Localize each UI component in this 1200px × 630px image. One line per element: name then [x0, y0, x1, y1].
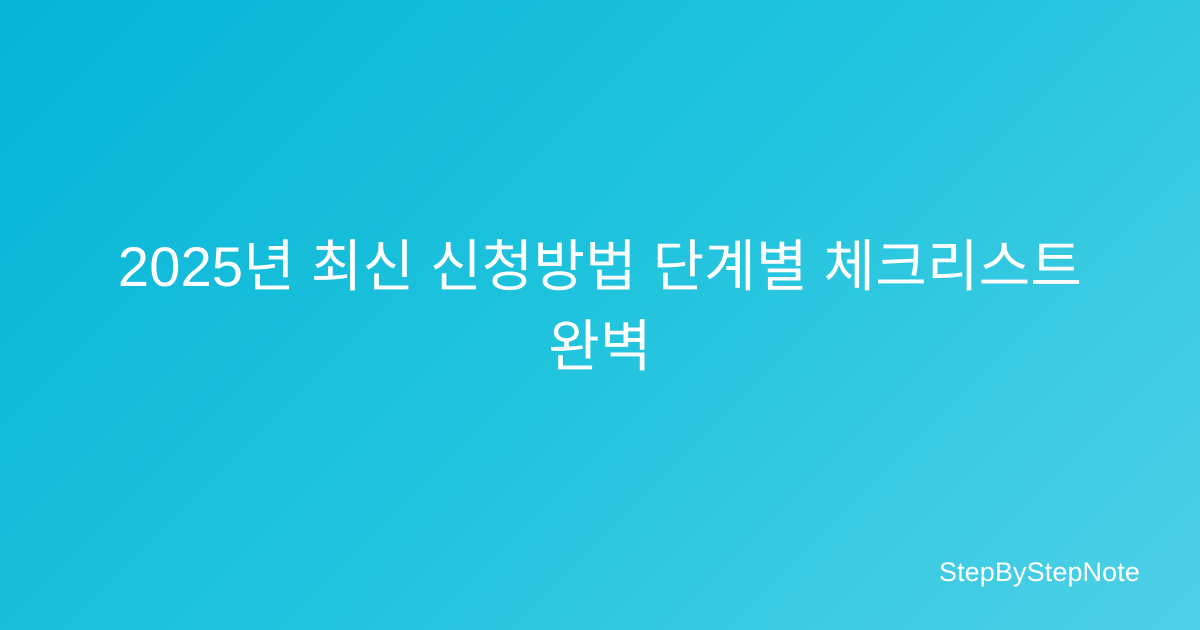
title-block: 2025년 최신 신청방법 단계별 체크리스트 완벽 [80, 227, 1120, 387]
site-watermark: StepByStepNote [939, 559, 1140, 586]
og-card: 2025년 최신 신청방법 단계별 체크리스트 완벽 StepByStepNot… [0, 0, 1200, 630]
page-title: 2025년 최신 신청방법 단계별 체크리스트 완벽 [80, 227, 1120, 387]
